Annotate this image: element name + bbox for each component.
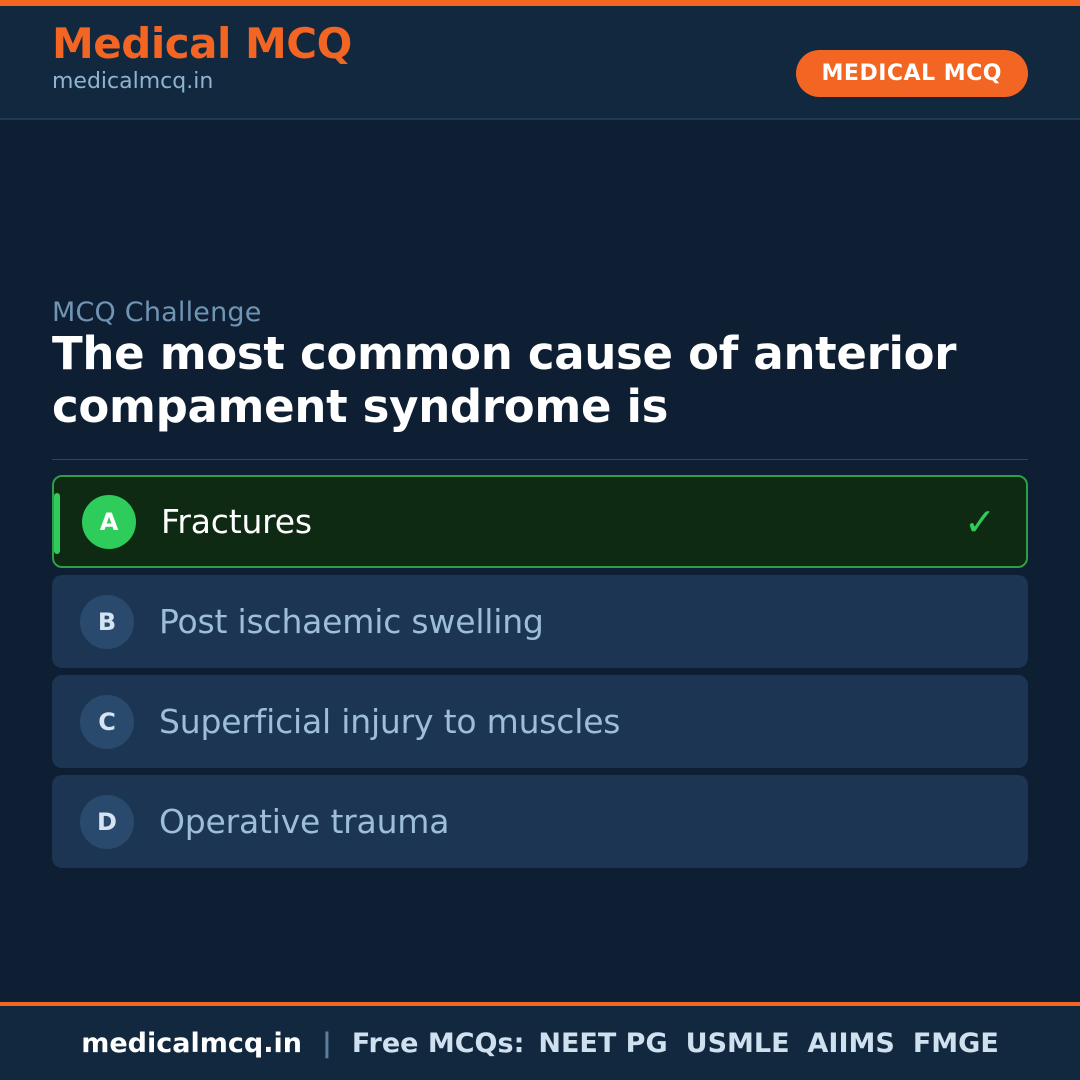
footer-exam-fmge: FMGE	[913, 1028, 999, 1059]
option-b-letter: B	[80, 595, 134, 649]
footer-exam-aiims: AIIMS	[808, 1028, 895, 1059]
option-d[interactable]: D Operative trauma	[52, 775, 1028, 868]
footer-separator: |	[322, 1028, 332, 1059]
options-list: A Fractures ✓ B Post ischaemic swelling …	[52, 475, 1028, 875]
divider	[52, 459, 1028, 460]
footer-exam-usmle: USMLE	[686, 1028, 790, 1059]
mcq-card: Medical MCQ medicalmcq.in MEDICAL MCQ MC…	[0, 0, 1080, 1080]
brand-subtitle: medicalmcq.in	[52, 70, 352, 94]
footer-exam-neetpg: NEET PG	[538, 1028, 667, 1059]
badge: MEDICAL MCQ	[796, 50, 1028, 97]
footer-content: medicalmcq.in | Free MCQs: NEET PG USMLE…	[81, 1028, 999, 1059]
eyebrow-label: MCQ Challenge	[52, 297, 262, 328]
question-text: The most common cause of anterior compam…	[52, 327, 1042, 433]
option-a-letter: A	[82, 495, 136, 549]
footer-site: medicalmcq.in	[81, 1028, 302, 1059]
check-icon: ✓	[964, 503, 996, 541]
option-b-text: Post ischaemic swelling	[159, 602, 544, 641]
option-d-text: Operative trauma	[159, 802, 449, 841]
option-d-letter: D	[80, 795, 134, 849]
main-content: MCQ Challenge The most common cause of a…	[0, 122, 1080, 1002]
brand-title: Medical MCQ	[52, 22, 352, 66]
option-c-text: Superficial injury to muscles	[159, 702, 620, 741]
header: Medical MCQ medicalmcq.in MEDICAL MCQ	[0, 6, 1080, 120]
brand: Medical MCQ medicalmcq.in	[52, 22, 352, 94]
option-a-text: Fractures	[161, 502, 312, 541]
option-c[interactable]: C Superficial injury to muscles	[52, 675, 1028, 768]
option-a[interactable]: A Fractures ✓	[52, 475, 1028, 568]
option-b[interactable]: B Post ischaemic swelling	[52, 575, 1028, 668]
footer-label: Free MCQs:	[352, 1028, 525, 1059]
footer: medicalmcq.in | Free MCQs: NEET PG USMLE…	[0, 1002, 1080, 1080]
option-c-letter: C	[80, 695, 134, 749]
